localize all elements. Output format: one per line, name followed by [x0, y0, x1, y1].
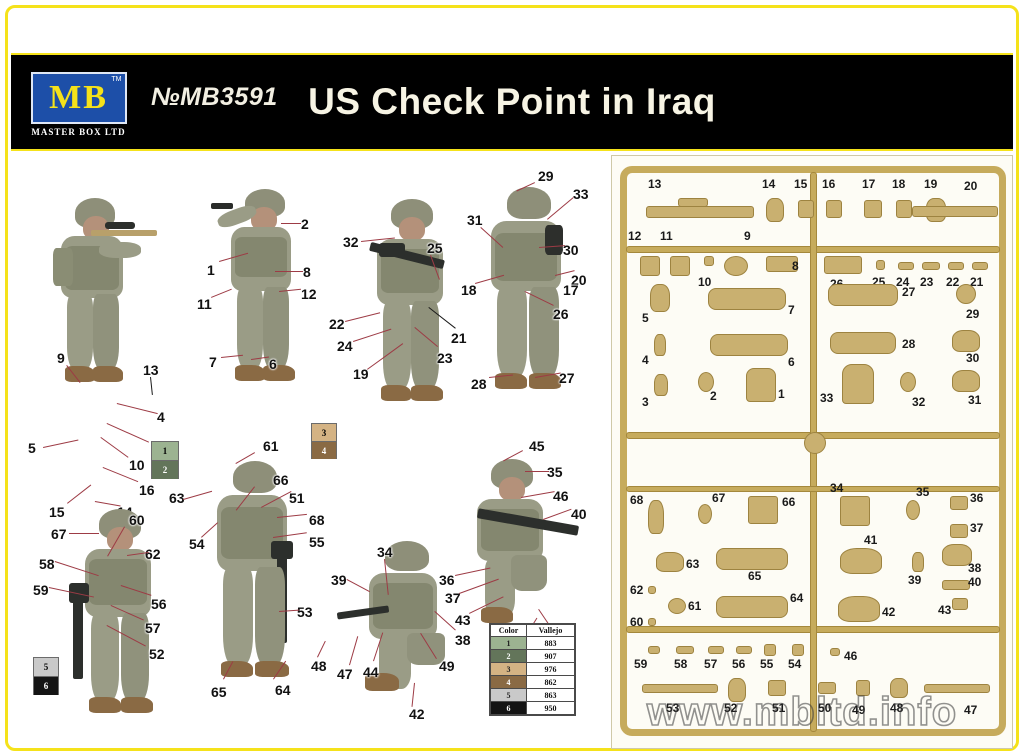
swatch-cell-2: 2: [152, 461, 178, 479]
part-number-56: 56: [732, 658, 745, 670]
callout-7: 7: [209, 355, 217, 369]
table-row: 3 976: [491, 663, 575, 676]
page-title: US Check Point in Iraq: [11, 81, 1013, 123]
color-table-header-color: Color: [491, 625, 527, 637]
callout-17: 17: [563, 283, 579, 297]
swatch-cell-6: 6: [34, 677, 58, 695]
part-number-66: 66: [782, 496, 795, 508]
table-row: 5 863: [491, 689, 575, 702]
part-number-23: 23: [920, 276, 933, 288]
part-number-1: 1: [778, 388, 785, 400]
figure-2-binoculars: [211, 185, 311, 403]
part-number-50: 50: [818, 702, 831, 714]
part-number-34: 34: [830, 482, 843, 494]
figure-1-sniper: [39, 190, 149, 405]
table-row: 2 907: [491, 650, 575, 663]
callout-53: 53: [297, 605, 313, 619]
callout-4: 4: [157, 410, 165, 424]
part-number-2: 2: [710, 390, 717, 402]
callout-27: 27: [559, 371, 575, 385]
callout-43: 43: [455, 613, 471, 627]
callout-42: 42: [409, 707, 425, 721]
sprue-panel: 13 14 15 16 17 18 19 20 12 11 10 9 8: [611, 155, 1013, 749]
callout-20: 30: [563, 243, 579, 257]
swatch-cell-5: 5: [34, 658, 58, 677]
color-swatch-1: 1: [491, 637, 527, 650]
part-number-28: 28: [902, 338, 915, 350]
content-area: 9 13 4 3 10 5 16 15 14: [11, 155, 1013, 749]
table-row: 6 950: [491, 702, 575, 715]
part-number-38: 38: [968, 562, 981, 574]
vallejo-code-3: 976: [527, 663, 575, 676]
part-number-36: 36: [970, 492, 983, 504]
callout-33: 33: [573, 187, 589, 201]
swatch-cell-4: 4: [312, 442, 336, 459]
color-swatch-6: 6: [491, 702, 527, 715]
table-row: 4 862: [491, 676, 575, 689]
part-number-27: 27: [902, 286, 915, 298]
part-number-59: 59: [634, 658, 647, 670]
color-swatch-3: 3: [491, 663, 527, 676]
part-number-51: 51: [772, 702, 785, 714]
part-number-10: 10: [698, 276, 711, 288]
callout-68: 68: [309, 513, 325, 527]
callout-13: 13: [143, 363, 159, 377]
part-number-58: 58: [674, 658, 687, 670]
color-table-header-vallejo: Vallejo: [527, 625, 575, 637]
color-swatch-4: 4: [491, 676, 527, 689]
part-number-60: 60: [630, 616, 643, 628]
callout-1: 1: [207, 263, 215, 277]
part-number-48: 48: [890, 702, 903, 714]
callout-6: 6: [269, 357, 277, 371]
part-number-61: 61: [688, 600, 701, 612]
callout-24: 24: [337, 339, 353, 353]
part-number-52: 52: [724, 702, 737, 714]
part-number-65: 65: [748, 570, 761, 582]
part-number-49: 49: [852, 704, 865, 716]
callout-32: 32: [343, 235, 359, 249]
callout-62: 62: [145, 547, 161, 561]
vallejo-code-1: 883: [527, 637, 575, 650]
part-number-13: 13: [648, 178, 661, 190]
part-number-62: 62: [630, 584, 643, 596]
part-number-14: 14: [762, 178, 775, 190]
part-number-12: 12: [628, 230, 641, 242]
vallejo-code-4: 862: [527, 676, 575, 689]
swatch-box-green: 1 2: [151, 441, 179, 479]
table-row: 1 883: [491, 637, 575, 650]
part-number-43: 43: [938, 604, 951, 616]
callout-48: 48: [311, 659, 327, 673]
part-number-64: 64: [790, 592, 803, 604]
part-number-7: 7: [788, 304, 795, 316]
callout-57: 57: [145, 621, 161, 635]
color-table: Color Vallejo 1 883 2 907: [489, 623, 576, 716]
callout-45: 45: [529, 439, 545, 453]
logo-subtitle: MASTER BOX LTD: [31, 127, 125, 137]
callout-30: 31: [467, 213, 483, 227]
part-number-5: 5: [642, 312, 649, 324]
swatch-box-grey: 5 6: [33, 657, 59, 695]
callout-61: 61: [263, 439, 279, 453]
callout-60: 60: [129, 513, 145, 527]
swatch-cell-1: 1: [152, 442, 178, 461]
part-number-40: 40: [968, 576, 981, 588]
callout-9: 9: [57, 351, 65, 365]
figure-7-kneeling: [351, 537, 461, 717]
callout-28: 28: [471, 377, 487, 391]
callout-5: 5: [28, 441, 36, 455]
callout-35: 35: [547, 465, 563, 479]
callout-25: 25: [427, 241, 443, 255]
part-number-8: 8: [792, 260, 799, 272]
part-number-15: 15: [794, 178, 807, 190]
part-number-17: 17: [862, 178, 875, 190]
part-number-53: 53: [666, 702, 679, 714]
part-number-67: 67: [712, 492, 725, 504]
part-number-6: 6: [788, 356, 795, 368]
swatch-cell-3: 3: [312, 424, 336, 442]
header-bar: MB TM MASTER BOX LTD №MB3591 US Check Po…: [11, 53, 1013, 151]
callout-8: 8: [303, 265, 311, 279]
part-number-18: 18: [892, 178, 905, 190]
callout-51: 51: [289, 491, 305, 505]
color-swatch-2: 2: [491, 650, 527, 663]
part-number-57: 57: [704, 658, 717, 670]
callout-58: 58: [39, 557, 55, 571]
callout-64: 64: [275, 683, 291, 697]
callout-55: 55: [309, 535, 325, 549]
part-number-47: 47: [964, 704, 977, 716]
callout-22: 22: [329, 317, 345, 331]
callout-11: 11: [197, 297, 212, 311]
callout-36: 36: [439, 573, 455, 587]
callout-29: 29: [538, 169, 554, 183]
figure-3-standing-rifleman: [361, 193, 466, 423]
part-number-42: 42: [882, 606, 895, 618]
part-number-11: 11: [660, 230, 673, 242]
callout-52: 52: [149, 647, 165, 661]
part-number-35: 35: [916, 486, 929, 498]
callout-12: 12: [301, 287, 317, 301]
callout-66: 66: [273, 473, 289, 487]
callout-67: 67: [51, 527, 67, 541]
part-number-46: 46: [844, 650, 857, 662]
callout-56: 56: [151, 597, 167, 611]
figures-panel: 9 13 4 3 10 5 16 15 14: [11, 155, 603, 749]
part-number-20: 20: [964, 180, 977, 192]
poster-page: MB TM MASTER BOX LTD №MB3591 US Check Po…: [0, 0, 1024, 756]
callout-10: 10: [129, 458, 145, 472]
part-number-54: 54: [788, 658, 801, 670]
vallejo-code-6: 950: [527, 702, 575, 715]
vallejo-code-5: 863: [527, 689, 575, 702]
part-number-29: 29: [966, 308, 979, 320]
part-number-16: 16: [822, 178, 835, 190]
swatch-box-tan: 3 4: [311, 423, 337, 459]
part-number-32: 32: [912, 396, 925, 408]
callout-2: 2: [301, 217, 309, 231]
callout-59: 59: [33, 583, 49, 597]
callout-15: 15: [49, 505, 65, 519]
part-number-41: 41: [864, 534, 877, 546]
part-number-3: 3: [642, 396, 649, 408]
part-number-33: 33: [820, 392, 833, 404]
callout-46: 46: [553, 489, 569, 503]
callout-47: 47: [337, 667, 353, 681]
vallejo-code-2: 907: [527, 650, 575, 663]
part-number-68: 68: [630, 494, 643, 506]
part-number-30: 30: [966, 352, 979, 364]
part-number-19: 19: [924, 178, 937, 190]
part-number-31: 31: [968, 394, 981, 406]
part-number-22: 22: [946, 276, 959, 288]
callout-18: 18: [461, 283, 477, 297]
callout-16: 16: [139, 483, 155, 497]
callout-40: 40: [571, 507, 587, 521]
part-number-63: 63: [686, 558, 699, 570]
callout-54: 54: [189, 537, 205, 551]
part-number-55: 55: [760, 658, 773, 670]
part-number-39: 39: [908, 574, 921, 586]
callout-26: 26: [553, 307, 569, 321]
callout-65: 65: [211, 685, 227, 699]
part-number-9: 9: [744, 230, 751, 242]
part-number-37: 37: [970, 522, 983, 534]
callout-49: 49: [439, 659, 455, 673]
callout-21: 21: [451, 331, 467, 345]
part-number-4: 4: [642, 354, 649, 366]
color-swatch-5: 5: [491, 689, 527, 702]
callout-23: 23: [437, 351, 453, 365]
callout-34: 34: [377, 545, 393, 559]
callout-39: 39: [331, 573, 347, 587]
callout-44: 44: [363, 665, 379, 679]
